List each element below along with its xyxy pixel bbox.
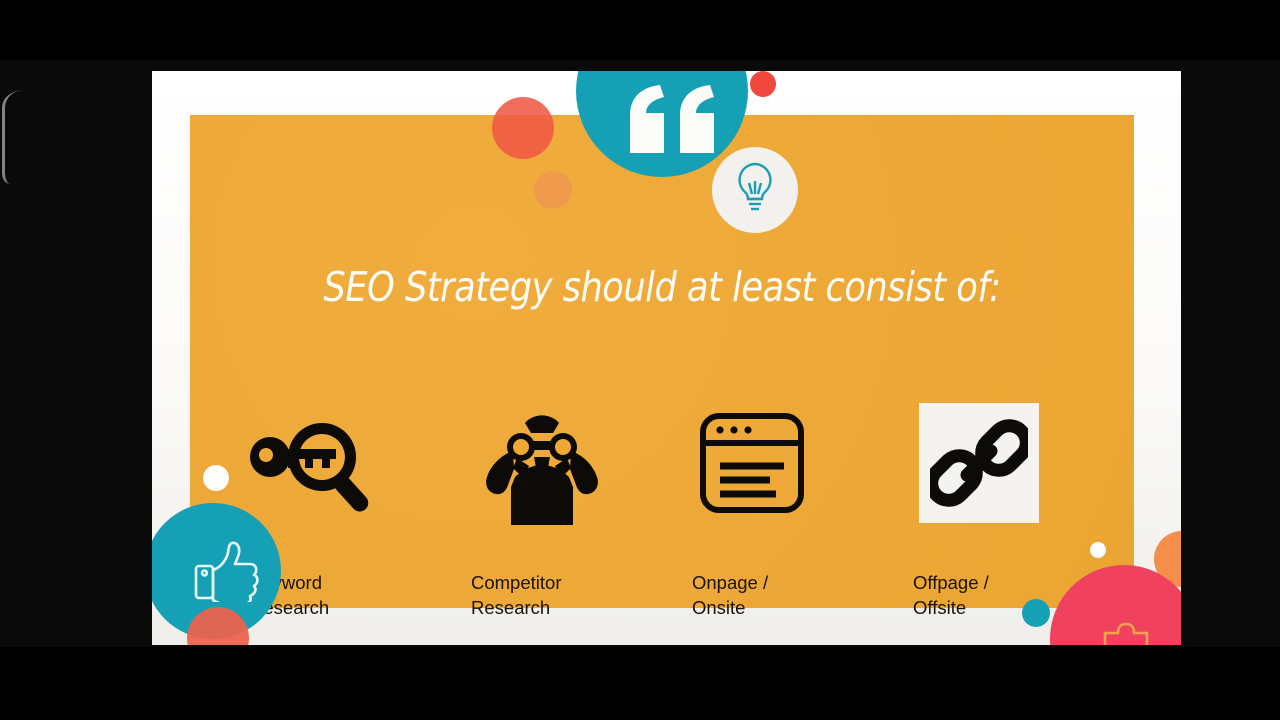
red-dot-top [750,71,776,97]
person-binoculars-icon [441,395,662,531]
label-onpage-onsite: Onpage / Onsite [662,570,883,620]
white-dot-bottom-right [1090,542,1106,558]
video-player-stage: SEO Strategy should at least consist of: [0,0,1280,720]
label-line-2: Onsite [692,595,883,620]
content-panel: SEO Strategy should at least consist of: [190,115,1134,608]
lightbulb-icon [712,147,798,233]
item-offpage-offsite [883,395,1104,531]
panel-texture [190,115,1134,608]
coral-faint-circle [534,171,572,209]
label-line-1: Onpage / [692,570,883,595]
label-row: Keyword Research Competitor Research Onp… [220,570,1104,620]
item-onpage-onsite [662,395,883,531]
white-dot-left [203,465,229,491]
left-arc-artifact [2,90,24,184]
chain-link-icon [919,403,1039,523]
label-competitor-research: Competitor Research [441,570,662,620]
coral-circle-top [492,97,554,159]
presentation-slide: SEO Strategy should at least consist of: [152,71,1181,645]
teal-dot-bottom-right [1022,599,1050,627]
icon-row [220,395,1104,531]
letterbox-top [0,0,1280,60]
label-line-1: Competitor [471,570,662,595]
page-title: SEO Strategy should at least consist of: [256,263,1068,311]
item-competitor-research [441,395,662,531]
letterbox-bottom [0,647,1280,720]
browser-window-icon [662,395,883,531]
puzzle-piece-icon [1050,565,1181,645]
label-line-2: Research [471,595,662,620]
chain-link-card [883,395,1104,531]
